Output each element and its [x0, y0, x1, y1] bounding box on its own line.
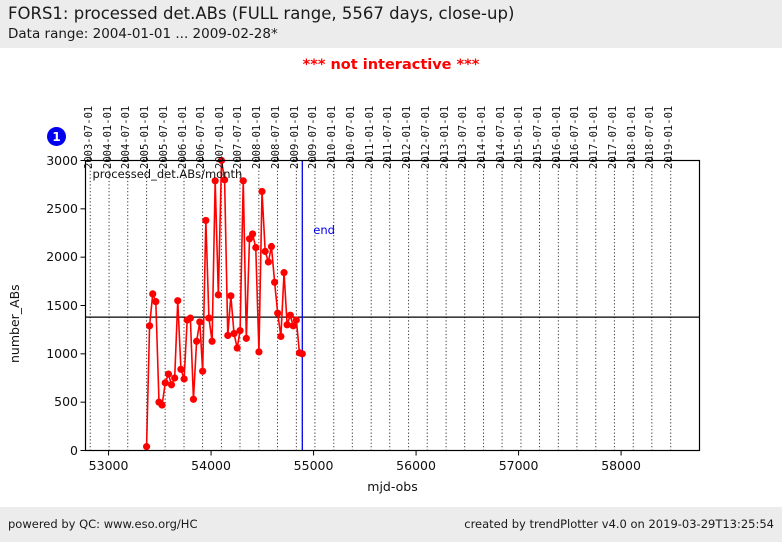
xaxis-top-date-label: 2018-01-01: [626, 105, 638, 168]
data-point: [202, 217, 209, 224]
footer-powered-by: powered by QC: www.eso.org/HC: [8, 517, 197, 531]
xaxis-top-date-label: 2016-07-01: [569, 105, 581, 168]
data-point: [299, 350, 306, 357]
xaxis-top-date-label: 2004-01-01: [102, 105, 114, 168]
xaxis-top-date-label: 2010-01-01: [326, 105, 338, 168]
xaxis-top-date-label: 2006-07-01: [195, 105, 207, 168]
yaxis-tick-label: 1500: [30, 298, 78, 313]
data-point: [287, 312, 294, 319]
data-point: [193, 338, 200, 345]
xaxis-top-date-label: 2016-01-01: [551, 105, 563, 168]
data-point: [152, 298, 159, 305]
series-line: [147, 161, 303, 447]
xaxis-top-date-label: 2009-01-01: [289, 105, 301, 168]
data-point: [224, 332, 231, 339]
xaxis-top-date-label: 2011-01-01: [364, 105, 376, 168]
data-point: [162, 379, 169, 386]
data-point: [249, 230, 256, 237]
xaxis-top-date-label: 2012-07-01: [420, 105, 432, 168]
xaxis-top-date-label: 2005-07-01: [158, 105, 170, 168]
data-point: [252, 244, 259, 251]
xaxis-top-date-label: 2008-07-01: [270, 105, 282, 168]
xaxis-top-date-label: 2018-07-01: [644, 105, 656, 168]
data-point: [262, 248, 269, 255]
data-point: [258, 188, 265, 195]
xaxis-tick-label: 56000: [381, 458, 451, 473]
xaxis-top-date-label: 2014-01-01: [476, 105, 488, 168]
footer-created-by: created by trendPlotter v4.0 on 2019-03-…: [464, 517, 774, 531]
xaxis-top-date-label: 2019-01-01: [663, 105, 675, 168]
xaxis-top-date-label: 2005-01-01: [139, 105, 151, 168]
yaxis-tick-label: 0: [30, 443, 78, 458]
xaxis-top-date-label: 2013-01-01: [439, 105, 451, 168]
xaxis-top-date-label: 2015-07-01: [532, 105, 544, 168]
xaxis-tick-label: 58000: [586, 458, 656, 473]
yaxis-tick-label: 3000: [30, 153, 78, 168]
data-point: [208, 338, 215, 345]
data-point: [268, 243, 275, 250]
xaxis-top-date-label: 2010-07-01: [345, 105, 357, 168]
data-point: [190, 396, 197, 403]
data-point: [274, 310, 281, 317]
xaxis-tick-label: 57000: [484, 458, 554, 473]
data-point: [158, 401, 165, 408]
xaxis-title: mjd-obs: [333, 479, 453, 494]
xaxis-top-date-label: 2003-07-01: [83, 105, 95, 168]
xaxis-tick-label: 53000: [74, 458, 144, 473]
data-point: [277, 333, 284, 340]
xaxis-top-date-label: 2008-01-01: [251, 105, 263, 168]
xaxis-top-date-label: 2011-07-01: [382, 105, 394, 168]
data-point: [187, 314, 194, 321]
xaxis-top-date-label: 2006-01-01: [177, 105, 189, 168]
data-point: [205, 314, 212, 321]
data-point: [199, 368, 206, 375]
data-point: [165, 371, 172, 378]
data-point: [236, 327, 243, 334]
data-point: [271, 279, 278, 286]
data-point: [227, 292, 234, 299]
xaxis-top-date-label: 2009-07-01: [307, 105, 319, 168]
data-point: [143, 443, 150, 450]
data-point: [293, 316, 300, 323]
data-point: [177, 366, 184, 373]
yaxis-tick-label: 1000: [30, 346, 78, 361]
xaxis-top-date-label: 2014-07-01: [495, 105, 507, 168]
data-point: [149, 290, 156, 297]
xaxis-top-date-label: 2017-07-01: [607, 105, 619, 168]
xaxis-top-date-label: 2012-01-01: [401, 105, 413, 168]
end-annotation-label: end: [313, 223, 335, 237]
xaxis-tick-label: 54000: [176, 458, 246, 473]
yaxis-tick-label: 2500: [30, 201, 78, 216]
page-footer: powered by QC: www.eso.org/HC created by…: [0, 507, 782, 542]
xaxis-top-date-label: 2013-07-01: [457, 105, 469, 168]
data-point: [181, 375, 188, 382]
series-name-label: processed_det.ABs/month: [93, 167, 243, 181]
data-point: [174, 297, 181, 304]
data-point: [280, 269, 287, 276]
trend-plot-page: FORS1: processed det.ABs (FULL range, 55…: [0, 0, 782, 542]
xaxis-top-date-label: 2007-07-01: [232, 105, 244, 168]
data-point: [215, 291, 222, 298]
xaxis-top-date-label: 2017-01-01: [588, 105, 600, 168]
chart-plot-area: 2003-07-012004-01-012004-07-012005-01-01…: [0, 0, 782, 542]
data-point: [255, 348, 262, 355]
yaxis-title: number_ABs: [7, 284, 22, 363]
data-point: [146, 322, 153, 329]
yaxis-tick-label: 2000: [30, 249, 78, 264]
data-point: [168, 381, 175, 388]
xaxis-top-date-label: 2007-01-01: [214, 105, 226, 168]
xaxis-top-date-label: 2015-01-01: [513, 105, 525, 168]
data-point: [171, 374, 178, 381]
xaxis-tick-label: 55000: [279, 458, 349, 473]
yaxis-tick-label: 500: [30, 394, 78, 409]
data-point: [284, 321, 291, 328]
data-point: [243, 335, 250, 342]
xaxis-top-date-label: 2004-07-01: [120, 105, 132, 168]
data-point: [234, 344, 241, 351]
data-point: [265, 258, 272, 265]
data-point: [196, 318, 203, 325]
